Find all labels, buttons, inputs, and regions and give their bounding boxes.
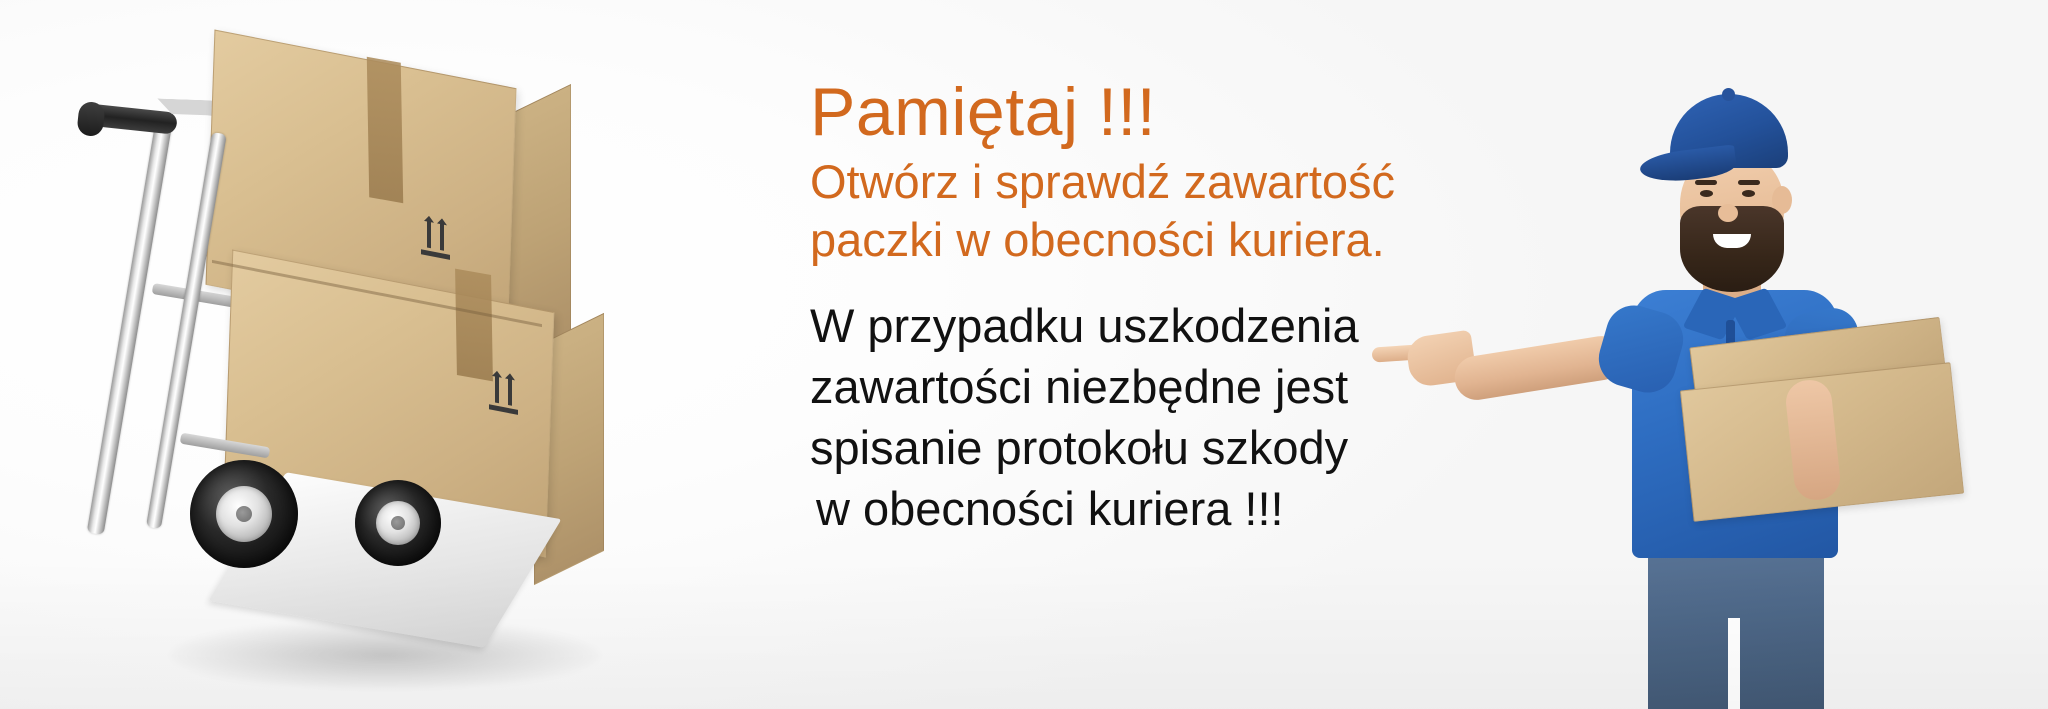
courier-eyebrow-left: [1695, 180, 1717, 185]
courier-eye-right: [1742, 190, 1755, 197]
hand-truck-wheel-large: [190, 460, 298, 568]
courier-cap-button: [1722, 88, 1735, 101]
hand-truck-wheel-small: [355, 480, 441, 566]
headline: Pamiętaj !!!: [810, 78, 1500, 147]
courier-eye-left: [1700, 190, 1713, 197]
body-line-3: spisanie protokołu szkody: [810, 417, 1500, 478]
courier-nose: [1718, 204, 1738, 222]
wheel-hub-center: [391, 516, 405, 530]
packing-tape-upper: [367, 57, 403, 203]
packing-tape-lower: [455, 269, 493, 382]
message-block: Pamiętaj !!! Otwórz i sprawdź zawartość …: [810, 78, 1500, 539]
body-block: W przypadku uszkodzenia zawartości niezb…: [810, 295, 1500, 539]
subhead-line-2: paczki w obecności kuriera.: [810, 211, 1500, 269]
hand-truck-illustration: [60, 40, 680, 709]
hand-truck-handle-grip: [76, 101, 105, 138]
this-way-up-icon: [412, 211, 458, 270]
subhead-line-1: Otwórz i sprawdź zawartość: [810, 153, 1500, 211]
wheel-hub-center: [236, 506, 252, 522]
delivery-warning-banner: Pamiętaj !!! Otwórz i sprawdź zawartość …: [0, 0, 2048, 709]
courier-eyebrow-right: [1738, 180, 1760, 185]
body-line-4: w obecności kuriera !!!: [810, 478, 1500, 539]
courier-jeans-leg-gap: [1728, 618, 1740, 709]
body-line-2: zawartości niezbędne jest: [810, 356, 1500, 417]
courier-illustration: [1540, 58, 1980, 709]
this-way-up-icon: [480, 366, 526, 425]
